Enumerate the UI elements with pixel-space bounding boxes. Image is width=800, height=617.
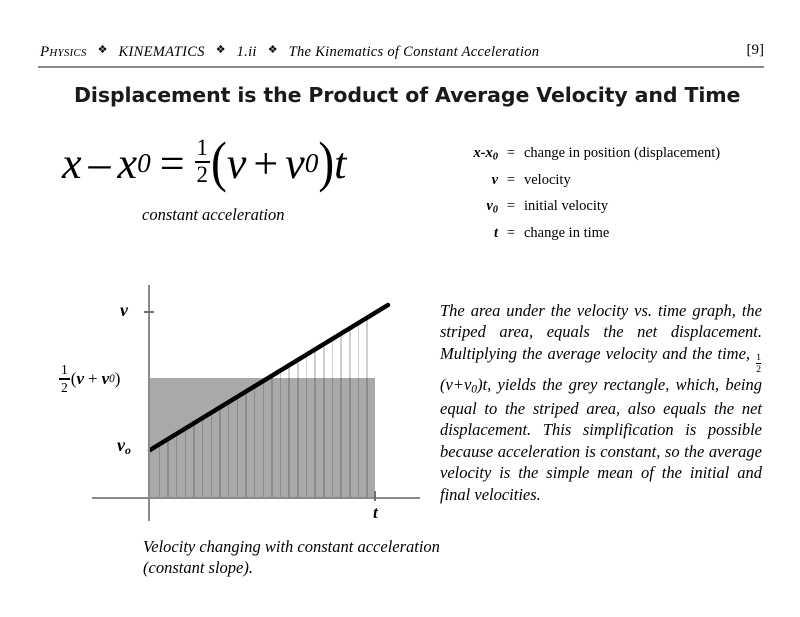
equation-one-half: 1 2 <box>195 137 210 187</box>
avg-close-paren: ) <box>115 369 121 389</box>
x-axis-label-t: t <box>373 503 378 523</box>
equation-open-paren: ( <box>211 131 227 195</box>
symbol-legend: x-x0 = change in position (displacement)… <box>440 146 720 252</box>
fraction-denominator: 2 <box>59 381 70 395</box>
legend-equals: = <box>498 199 524 215</box>
header-breadcrumb: Physics ❖ KINEMATICS ❖ 1.ii ❖ The Kinema… <box>40 44 539 61</box>
equation-caption: constant acceleration <box>142 205 285 225</box>
y-axis-label-v: v <box>120 300 128 321</box>
page-number: [9] <box>747 42 765 59</box>
equation-x0: x <box>118 138 138 189</box>
legend-definition: change in position (displacement) <box>524 146 720 162</box>
running-header: Physics ❖ KINEMATICS ❖ 1.ii ❖ The Kinema… <box>38 44 764 70</box>
explanation-paragraph: The area under the velocity vs. time gra… <box>440 300 762 505</box>
explanation-part2: , yields the grey rectangle, which, bein… <box>440 375 762 503</box>
explanation-part1: The area under the velocity vs. time gra… <box>440 301 762 363</box>
graph-caption: Velocity changing with constant accelera… <box>143 536 443 578</box>
equation-v0-subscript: 0 <box>305 148 319 179</box>
legend-row: x-x0 = change in position (displacement) <box>440 146 720 163</box>
equation-plus: + <box>246 138 285 189</box>
y-axis <box>148 285 150 521</box>
header-separator-icon: ❖ <box>257 43 289 56</box>
equation-v: v <box>227 138 247 189</box>
inline-plus: + <box>453 375 464 394</box>
document-page: Physics ❖ KINEMATICS ❖ 1.ii ❖ The Kinema… <box>0 0 800 617</box>
legend-symbol: v0 <box>440 199 498 216</box>
equation-v0: v <box>285 138 305 189</box>
legend-row: v0 = initial velocity <box>440 199 720 216</box>
y-axis-tick-v <box>144 311 154 313</box>
header-subject: Physics <box>40 44 87 61</box>
fraction-numerator: 1 <box>756 353 761 363</box>
velocity-line <box>150 303 390 453</box>
legend-symbol: x-x0 <box>440 146 498 163</box>
avg-label-fraction: 1 2 <box>59 363 70 394</box>
fraction-numerator: 1 <box>59 363 70 377</box>
fraction-numerator: 1 <box>195 137 210 160</box>
legend-definition: initial velocity <box>524 199 608 215</box>
header-lesson: The Kinematics of Constant Acceleration <box>289 44 540 61</box>
legend-definition: velocity <box>524 173 571 189</box>
x-axis <box>92 497 420 499</box>
legend-definition: change in time <box>524 226 609 242</box>
header-separator-icon: ❖ <box>205 43 237 56</box>
header-section: 1.ii <box>237 44 257 61</box>
average-velocity-label: 1 2 ( v + v0 ) <box>58 363 120 394</box>
inline-fraction: 12 <box>756 353 761 374</box>
equation-x: x <box>62 138 82 189</box>
header-rule <box>38 66 764 68</box>
equation-equals: = <box>151 138 194 189</box>
avg-v: v <box>76 369 84 389</box>
avg-v0: v <box>102 369 110 389</box>
legend-row: v = velocity <box>440 173 720 190</box>
x-axis-tick-t <box>374 491 376 501</box>
equation-t: t <box>334 138 346 189</box>
equation-x0-subscript: 0 <box>137 148 151 179</box>
avg-plus: + <box>84 369 102 389</box>
legend-symbol: v <box>440 173 498 190</box>
header-separator-icon: ❖ <box>87 43 119 56</box>
fraction-denominator: 2 <box>756 365 761 375</box>
initial-velocity-label: vo <box>117 435 131 458</box>
legend-row: t = change in time <box>440 226 720 243</box>
velocity-time-graph: v 1 2 ( v + v0 ) vo t <box>60 285 420 535</box>
equation-minus: – <box>82 138 118 189</box>
legend-equals: = <box>498 173 524 189</box>
legend-equals: = <box>498 146 524 162</box>
equation-close-paren: ) <box>318 131 334 195</box>
main-equation: x – x0 = 1 2 ( v + v0 ) t <box>62 136 346 190</box>
page-title: Displacement is the Product of Average V… <box>74 83 740 107</box>
legend-equals: = <box>498 226 524 242</box>
inline-v: v <box>446 375 453 394</box>
fraction-denominator: 2 <box>195 164 210 187</box>
legend-symbol: t <box>440 226 498 243</box>
header-topic: KINEMATICS <box>119 44 205 61</box>
